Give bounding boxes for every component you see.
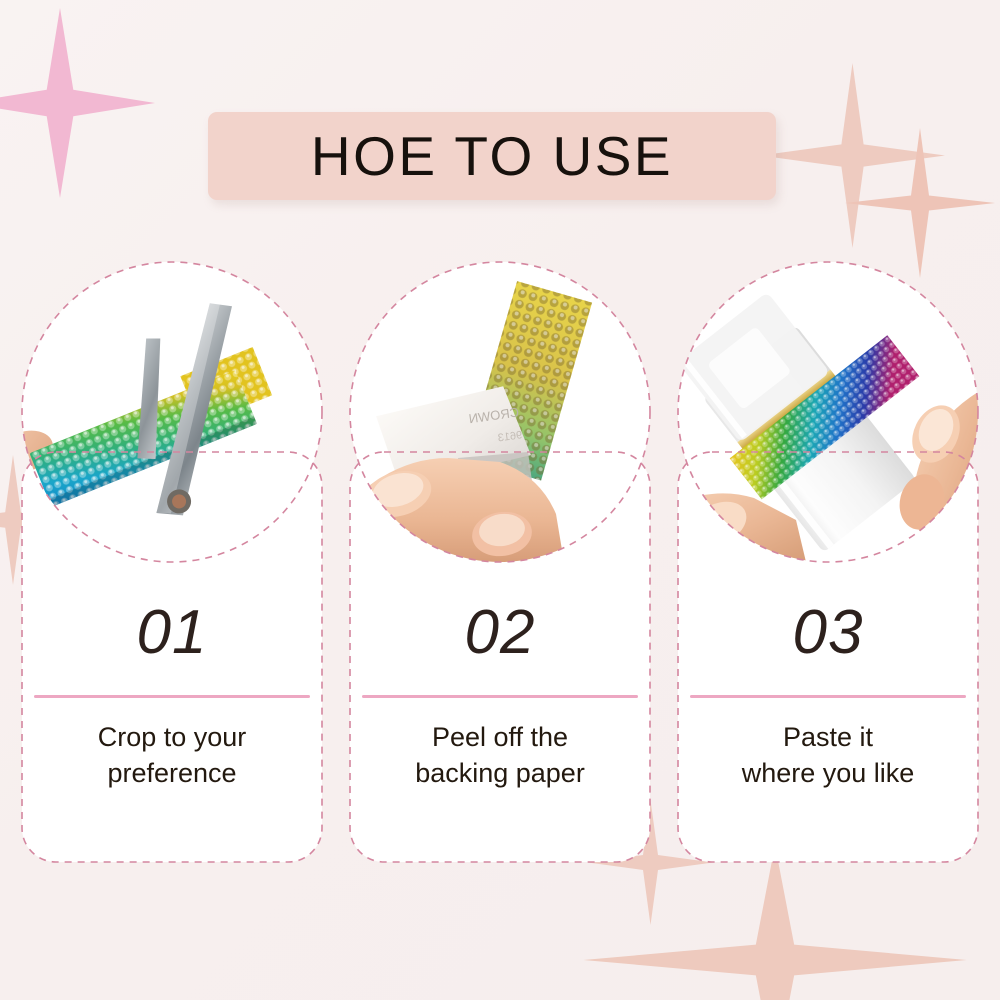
infographic-root: HOE TO USE: [0, 0, 1000, 1000]
step-caption-line-1: Peel off the: [432, 722, 568, 752]
step-caption: Paste it where you like: [688, 720, 968, 792]
step-card-3: 03 Paste it where you like: [678, 262, 978, 862]
step-3-card-content: 03 Paste it where you like: [678, 452, 978, 862]
step-divider: [690, 695, 966, 698]
step-card-2: CROWN 9613 02: [350, 262, 650, 862]
step-caption-line-1: Paste it: [783, 722, 873, 752]
step-2-card-content: 02 Peel off the backing paper: [350, 452, 650, 862]
step-card-1: 01 Crop to your preference: [22, 262, 322, 862]
sparkle-top-left-icon: [0, 8, 155, 198]
step-caption: Crop to your preference: [32, 720, 312, 792]
step-divider: [362, 695, 638, 698]
step-caption: Peel off the backing paper: [360, 720, 640, 792]
step-caption-line-2: backing paper: [415, 758, 585, 788]
step-number: 03: [678, 602, 978, 664]
sparkle-top-right-large-icon: [760, 58, 945, 253]
sparkle-bottom-right-large-icon: [560, 845, 990, 1000]
page-title: HOE TO USE: [311, 129, 673, 184]
step-divider: [34, 695, 310, 698]
step-number: 02: [350, 602, 650, 664]
page-title-banner: HOE TO USE: [208, 112, 776, 200]
step-caption-line-2: where you like: [742, 758, 915, 788]
sparkle-top-right-small-icon: [845, 128, 995, 278]
step-1-card-content: 01 Crop to your preference: [22, 452, 322, 862]
step-number: 01: [22, 602, 322, 664]
step-caption-line-1: Crop to your: [98, 722, 247, 752]
step-caption-line-2: preference: [107, 758, 236, 788]
